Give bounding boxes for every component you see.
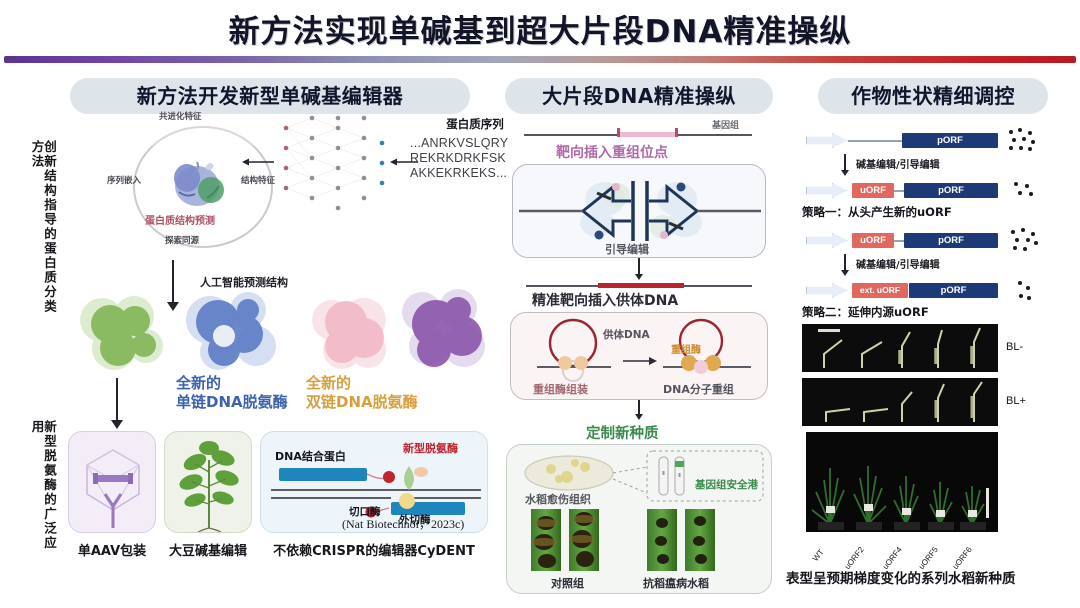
porf-box-1: pORF xyxy=(902,133,998,148)
protein-dots-high-icon xyxy=(1006,128,1038,152)
neural-network-icon xyxy=(278,110,388,215)
bl-plus-label: BL+ xyxy=(1006,395,1026,407)
adult-rice-plants-icon xyxy=(806,432,998,532)
mid-arrow-2-icon xyxy=(635,414,643,420)
enzyme-dsdna-line1: 全新的 xyxy=(306,374,351,392)
left-side-label-top: 创新结构指导的蛋白质分类方法 xyxy=(30,140,55,315)
left-panel-heading: 新方法开发新型单碱基编辑器 xyxy=(70,78,470,114)
cydent-deaminase-label: 新型脱氨酶 xyxy=(403,440,458,456)
photo-bl-plus xyxy=(802,378,998,426)
left-side-label-bottom: 新型脱氨酶的广泛应用 xyxy=(30,420,55,560)
card2-right-label: DNA分子重组 xyxy=(663,381,734,397)
rice-leaf-photos-icon xyxy=(529,509,753,571)
uorf-box-1: uORF xyxy=(852,183,894,198)
enzyme-ssdna-line1: 全新的 xyxy=(176,374,221,392)
promoter-arrow-icon xyxy=(806,133,848,148)
right-panel-caption: 表型呈预期梯度变化的系列水稻新种质 xyxy=(786,567,1016,587)
ssdna-deaminase-blob-icon xyxy=(72,290,182,382)
porf-box-4: pORF xyxy=(909,283,998,298)
ssdna-deaminase-blob2-icon xyxy=(178,286,286,378)
card1-label: 引导编辑 xyxy=(605,241,649,257)
left-panel: 新方法开发新型单碱基编辑器 共进化特征 序列嵌入 结构特征 探索同源 蛋白质结构… xyxy=(60,78,480,114)
strategy-2-label: 策略二：延伸内源uORF xyxy=(802,304,929,320)
protein-sequence-line-1: ...ANRKVSLQRY xyxy=(410,136,540,151)
enzyme-label-dsdna: 全新的 双链DNA脱氨酶 xyxy=(306,374,418,412)
apps-arrow-line xyxy=(116,378,118,422)
cycle-label-top: 共进化特征 xyxy=(159,110,202,122)
promoter-arrow-3-icon xyxy=(806,233,848,248)
protein-dots-low-icon xyxy=(1012,281,1038,303)
prime-editing-card: 引导编辑 xyxy=(512,164,766,258)
genome-label: 基因组 xyxy=(712,118,739,131)
cycle-label-left: 序列嵌入 xyxy=(107,174,141,186)
rice-result-card: 水稻愈伤组织 基因组安全港 xyxy=(506,444,772,594)
strategy-1-label: 策略一：从头产生新的uORF xyxy=(802,204,952,220)
porf-box-3: pORF xyxy=(904,233,998,248)
protein-sequence-line-2: REKRKDRKFSK xyxy=(410,151,540,166)
apps-arrow-head-icon xyxy=(111,420,123,429)
app-box-aav xyxy=(68,431,156,533)
edit-label-1: 碱基编辑/引导编辑 xyxy=(856,156,940,171)
step2-label: 精准靶向插入供体DNA xyxy=(532,290,678,310)
protein-structure-icon xyxy=(167,154,239,212)
photo-adult-rice xyxy=(806,432,998,532)
edit-arrow-head-2-icon xyxy=(841,270,849,276)
mid-panel: 大片段DNA精准操纵 基因组 靶向插入重组位点 xyxy=(494,78,784,114)
bl-minus-seedlings-icon xyxy=(802,324,998,372)
mid-panel-heading: 大片段DNA精准操纵 xyxy=(505,78,773,114)
app-caption-soybean: 大豆碱基编辑 xyxy=(164,540,252,559)
promoter-arrow-4-icon xyxy=(806,283,848,298)
app-box-soybean xyxy=(164,431,252,533)
photo-bl-minus xyxy=(802,324,998,372)
edit-arrow-head-1-icon xyxy=(841,170,849,176)
orf-row-ext-uorf: ext. uORF pORF xyxy=(806,282,1046,299)
step1-label: 靶向插入重组位点 xyxy=(556,142,668,162)
cycle-label-bottom: 探索同源 xyxy=(165,234,199,246)
protein-dots-mid-icon xyxy=(1010,181,1038,201)
step3-label: 定制新种质 xyxy=(586,422,659,443)
porf-box-2: pORF xyxy=(904,183,998,198)
photo-left-label: 对照组 xyxy=(551,575,584,591)
donor-dna-label: 供体DNA xyxy=(603,327,650,342)
inserted-dna-bar-icon xyxy=(524,280,754,290)
orf-connector-2 xyxy=(894,190,904,192)
cydent-citation: (Nat Biotechnol，2023c) xyxy=(342,515,464,532)
cycle-label-right: 结构特征 xyxy=(241,174,275,186)
app-caption-cydent: 不依赖CRISPR的编辑器CyDENT xyxy=(260,540,488,559)
bl-minus-label: BL- xyxy=(1006,341,1023,353)
orf-row-endo-uorf: uORF pORF xyxy=(806,232,1046,249)
cydent-dna-binding-label: DNA结合蛋白 xyxy=(275,448,346,464)
app-caption-aav: 单AAV包装 xyxy=(68,540,156,559)
uorf-box-2: uORF xyxy=(852,233,894,248)
cycle-label-center: 蛋白质结构预测 xyxy=(145,212,215,227)
orf-row-new-uorf: uORF pORF xyxy=(806,182,1046,199)
soybean-plant-icon xyxy=(165,432,252,533)
bl-plus-seedlings-icon xyxy=(802,378,998,426)
structure-prediction-cycle: 共进化特征 序列嵌入 结构特征 探索同源 蛋白质结构预测 xyxy=(115,120,290,255)
enzyme-dsdna-line2: 双链DNA脱氨酶 xyxy=(306,393,418,411)
protein-dots-high-2-icon xyxy=(1008,228,1040,252)
orf-connector-3 xyxy=(894,240,904,242)
page-title: 新方法实现单碱基到超大片段DNA精准操纵 xyxy=(0,6,1080,51)
recombination-card: 供体DNA 重组酶 重组酶组装 DNA分子重组 xyxy=(510,312,768,400)
protein-sequence-title: 蛋白质序列 xyxy=(410,116,540,132)
edit-label-2: 碱基编辑/引导编辑 xyxy=(856,256,940,271)
orf-connector-1 xyxy=(848,140,902,142)
title-divider xyxy=(4,56,1076,63)
enzyme-label-ssdna: 全新的 单链DNA脱氨酶 xyxy=(176,374,288,412)
promoter-arrow-2-icon xyxy=(806,183,848,198)
ext-uorf-box: ext. uORF xyxy=(852,283,908,298)
card2-left-label: 重组酶组装 xyxy=(533,381,588,397)
orf-row-wt: pORF xyxy=(806,132,1046,149)
dsdna-deaminase-blob2-icon xyxy=(392,284,496,378)
callus-label: 水稻愈伤组织 xyxy=(525,491,591,507)
genotype-label-0: WT xyxy=(811,548,826,563)
safe-harbor-label: 基因组安全港 xyxy=(695,477,758,492)
arrow-left-nn-icon xyxy=(242,157,274,167)
aav-capsid-icon xyxy=(69,432,156,533)
dsdna-deaminase-blob-icon xyxy=(302,290,402,380)
right-panel-heading: 作物性状精细调控 xyxy=(818,78,1048,114)
photo-right-label: 抗稻瘟病水稻 xyxy=(643,575,709,591)
recombinase-label: 重组酶 xyxy=(671,341,701,356)
right-panel: 作物性状精细调控 pORF 碱基编辑/引导编辑 uORF pORF 策略一：从头… xyxy=(792,78,1074,114)
enzyme-ssdna-line2: 单链DNA脱氨酶 xyxy=(176,393,288,411)
